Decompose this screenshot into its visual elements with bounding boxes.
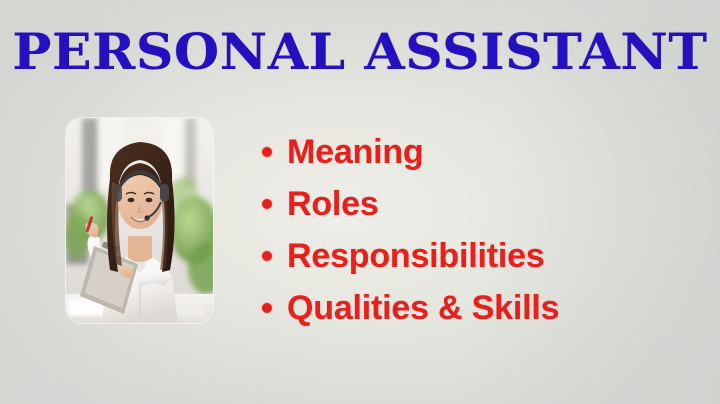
list-item: Meaning — [262, 126, 702, 178]
assistant-photo — [66, 118, 213, 323]
list-item-label: Roles — [287, 186, 379, 222]
list-item: Responsibilities — [262, 230, 702, 282]
list-item-label: Meaning — [287, 134, 424, 170]
list-item: Roles — [262, 178, 702, 230]
page-title: PERSONAL ASSISTANT — [0, 24, 720, 80]
assistant-photo-illustration — [66, 118, 213, 323]
slide-canvas: PERSONAL ASSISTANT — [0, 0, 720, 404]
list-item-label: Qualities & Skills — [287, 290, 559, 326]
list-item-label: Responsibilities — [287, 238, 545, 274]
list-item: Qualities & Skills — [262, 282, 702, 334]
bullet-dot-icon — [262, 303, 272, 313]
bullet-dot-icon — [262, 199, 272, 209]
bullet-dot-icon — [262, 251, 272, 261]
topic-list: Meaning Roles Responsibilities Qualities… — [262, 126, 702, 334]
bullet-dot-icon — [262, 147, 272, 157]
